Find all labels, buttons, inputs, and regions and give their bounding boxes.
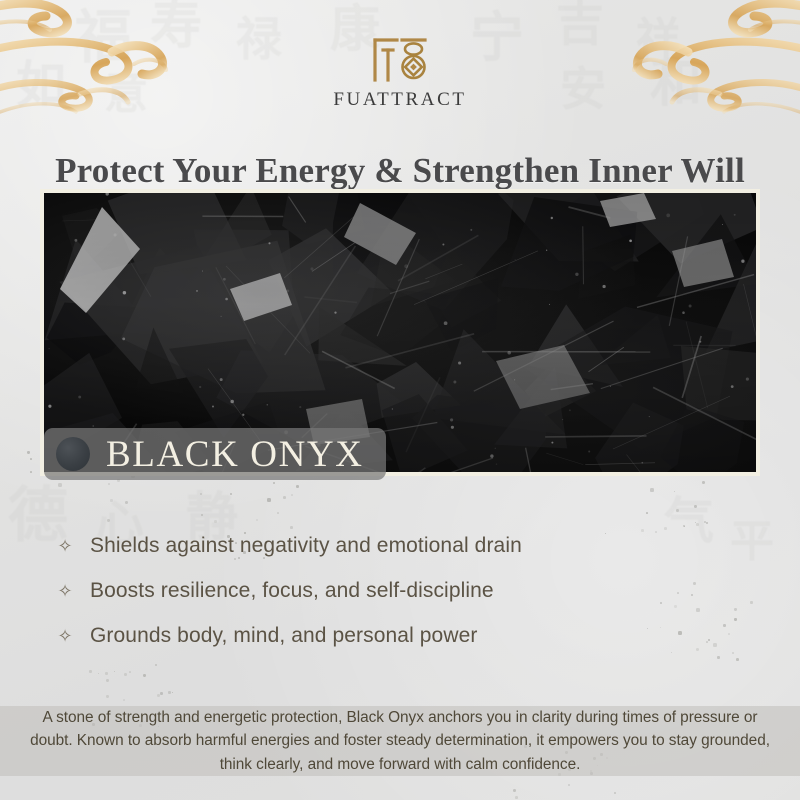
- speckle-dot: [110, 499, 113, 502]
- speckle-dot: [614, 792, 616, 794]
- speckle-dot: [291, 494, 293, 496]
- list-item: ✧Boosts resilience, focus, and self-disc…: [56, 568, 736, 613]
- speckle-dot: [160, 692, 163, 695]
- speckle-dot: [108, 483, 110, 485]
- speckle-dot: [296, 485, 299, 488]
- speckle-dot: [30, 471, 32, 473]
- speckle-dot: [256, 519, 258, 521]
- page-title: Protect Your Energy & Strengthen Inner W…: [0, 151, 800, 191]
- brand-lockup: FUATTRACT: [0, 34, 800, 111]
- speckle-dot: [27, 451, 30, 454]
- speckle-dot: [157, 694, 160, 697]
- speckle-dot: [172, 692, 173, 693]
- footer-band: A stone of strength and energetic protec…: [0, 706, 800, 776]
- speckle-dot: [107, 519, 110, 522]
- benefit-text: Grounds body, mind, and personal power: [90, 624, 477, 648]
- speckle-dot: [267, 498, 271, 502]
- speckle-dot: [650, 488, 654, 492]
- footer-description: A stone of strength and energetic protec…: [22, 706, 778, 776]
- stone-name: BLACK ONYX: [106, 436, 364, 473]
- watermark-glyph: 平: [730, 520, 774, 564]
- speckle-dot: [201, 514, 203, 516]
- benefit-text: Shields against negativity and emotional…: [90, 534, 522, 558]
- speckle-dot: [129, 671, 131, 673]
- benefits-list: ✧Shields against negativity and emotiona…: [56, 523, 736, 658]
- speckle-dot: [125, 501, 128, 504]
- speckle-dot: [124, 673, 127, 676]
- speckle-dot: [114, 671, 115, 672]
- speckle-dot: [674, 491, 675, 492]
- speckle-dot: [98, 673, 99, 674]
- speckle-dot: [568, 784, 570, 786]
- speckle-dot: [143, 674, 146, 677]
- speckle-dot: [750, 601, 753, 604]
- speckle-dot: [106, 695, 109, 698]
- brand-name: FUATTRACT: [333, 89, 466, 111]
- fuattract-emblem-icon: [371, 34, 429, 84]
- speckle-dot: [168, 691, 171, 694]
- speckle-dot: [676, 509, 679, 512]
- speckle-dot: [694, 505, 697, 508]
- speckle-dot: [736, 658, 739, 661]
- speckle-dot: [273, 482, 275, 484]
- speckle-dot: [58, 483, 62, 487]
- speckle-dot: [702, 481, 705, 484]
- sparkle-bullet-icon: ✧: [56, 537, 74, 555]
- speckle-dot: [155, 664, 157, 666]
- benefit-text: Boosts resilience, focus, and self-disci…: [90, 579, 494, 603]
- stone-color-swatch-icon: [56, 437, 90, 471]
- sparkle-bullet-icon: ✧: [56, 627, 74, 645]
- speckle-dot: [283, 496, 286, 499]
- speckle-dot: [89, 670, 92, 673]
- speckle-dot: [106, 679, 109, 682]
- speckle-dot: [200, 493, 202, 495]
- speckle-dot: [646, 512, 648, 514]
- list-item: ✧Shields against negativity and emotiona…: [56, 523, 736, 568]
- speckle-dot: [30, 458, 32, 460]
- speckle-dot: [105, 672, 108, 675]
- promo-poster: 福寿禄康宁吉祥如意安和德心静气平: [0, 0, 800, 800]
- list-item: ✧Grounds body, mind, and personal power: [56, 613, 736, 658]
- sparkle-bullet-icon: ✧: [56, 582, 74, 600]
- speckle-dot: [230, 493, 232, 495]
- speckle-dot: [277, 512, 279, 514]
- speckle-dot: [123, 699, 125, 701]
- stone-name-banner: BLACK ONYX: [44, 428, 386, 480]
- speckle-dot: [515, 796, 518, 799]
- speckle-dot: [513, 789, 516, 792]
